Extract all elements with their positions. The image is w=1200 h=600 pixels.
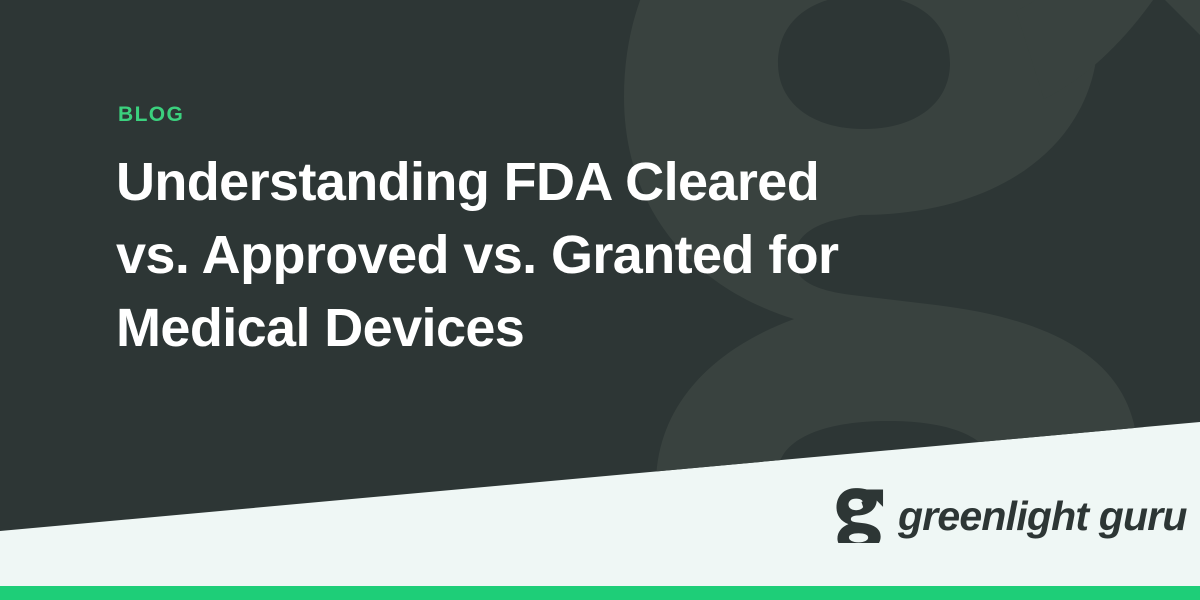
page-title: Understanding FDA Cleared vs. Approved v… — [116, 146, 1096, 365]
blog-banner: BLOG Understanding FDA Cleared vs. Appro… — [0, 0, 1200, 600]
headline-line-1: Understanding FDA Cleared — [116, 146, 1096, 219]
headline-line-3: Medical Devices — [116, 292, 1096, 365]
greenlight-guru-g-mark-icon — [836, 487, 884, 543]
bottom-accent-bar — [0, 586, 1200, 600]
brand-wordmark: greenlight guru — [898, 496, 1187, 537]
headline-line-2: vs. Approved vs. Granted for — [116, 219, 1096, 292]
brand-logo: greenlight guru — [836, 486, 1187, 544]
category-label: BLOG — [118, 104, 184, 125]
